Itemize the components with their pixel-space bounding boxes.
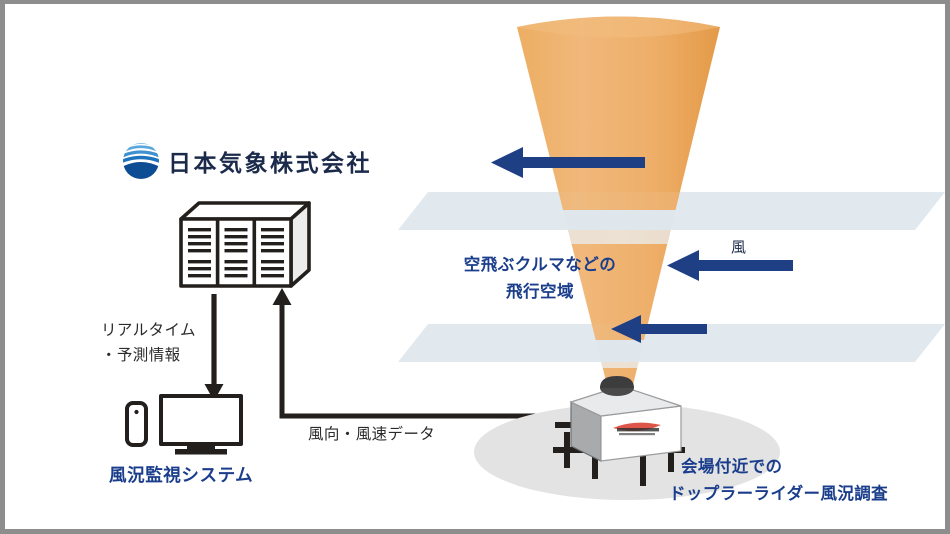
airspace-label-line1: 空飛ぶクルマなどの [464,256,617,274]
wind-label: 風 [731,236,746,257]
airspace-label: 空飛ぶクルマなどの 飛行空域 [445,252,635,306]
realtime-forecast-label: リアルタイム ・予測情報 [101,318,196,368]
survey-label-line2: ドップラーライダー風況調査 [669,481,888,508]
survey-label-line1: 会場付近での [669,454,888,481]
arrow-down-to-monitor [203,294,225,402]
airspace-label-line2: 飛行空域 [445,279,635,306]
monitoring-pc-icon [125,394,245,457]
realtime-label-line2: ・予測情報 [101,343,196,368]
diagram-canvas: 日本気象株式会社 [5,4,945,529]
server-rack-icon [173,197,313,292]
wind-arrow-middle [667,250,793,281]
realtime-label-line1: リアルタイム [101,322,196,339]
survey-label: 会場付近での ドップラーライダー風況調査 [669,454,888,508]
company-name: 日本気象株式会社 [168,144,372,178]
monitoring-system-label: 風況監視システム [109,462,253,487]
company-logo-icon [120,138,162,182]
screenshot-frame: 日本気象株式会社 [0,0,950,534]
